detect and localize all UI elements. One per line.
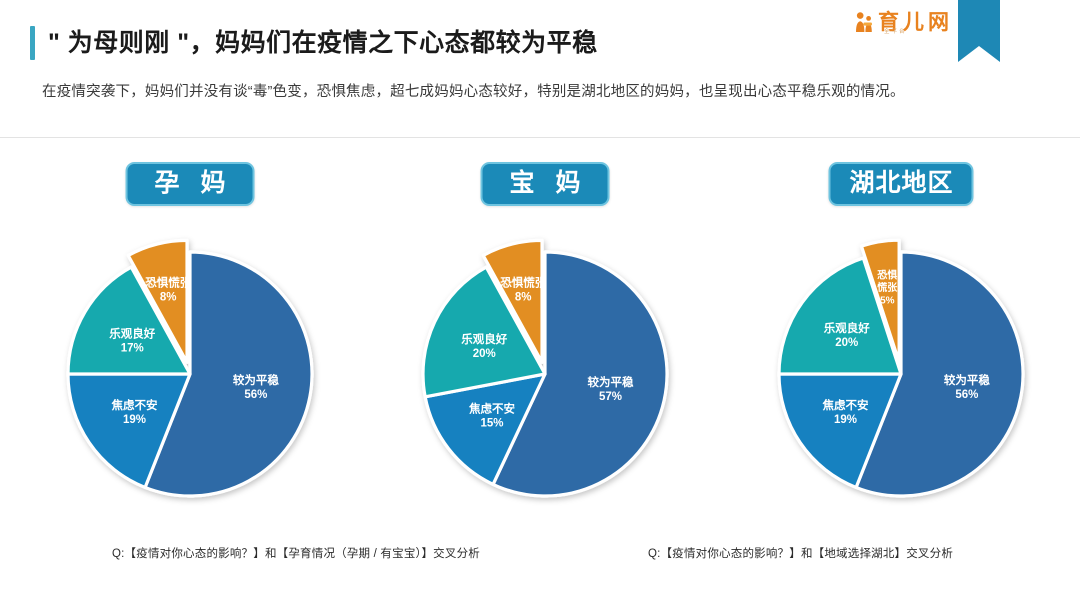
chart-panel-pregnant: 孕 妈 较为平稳56%焦虑不安19%乐观良好17%恐惧慌张8% — [10, 150, 370, 550]
pie-chart-1[interactable]: 较为平稳57%焦虑不安15%乐观良好20%恐惧慌张8% — [395, 224, 695, 524]
chart-panel-hubei: 湖北地区 较为平稳56%焦虑不安19%乐观良好20%恐惧慌张5% — [721, 150, 1080, 550]
pie-chart-2[interactable]: 较为平稳56%焦虑不安19%乐观良好20%恐惧慌张5% — [751, 224, 1051, 524]
header-divider — [0, 137, 1080, 138]
title-accent-bar — [30, 26, 35, 60]
footnote-pregnant-mother: Q:【疫情对你心态的影响？】和【孕育情况（孕期 / 有宝宝）】交叉分析 — [112, 545, 480, 561]
charts-row: 孕 妈 较为平稳56%焦虑不安19%乐观良好17%恐惧慌张8% 宝 妈 较为平稳… — [0, 150, 1080, 550]
chart-title-badge-1: 宝 妈 — [481, 162, 610, 206]
chart-title-badge-2: 湖北地区 — [828, 162, 973, 206]
chart-panel-mother: 宝 妈 较为平稳57%焦虑不安15%乐观良好20%恐惧慌张8% — [365, 150, 725, 550]
title-row: " 为母则刚 "，妈妈们在疫情之下心态都较为平稳 — [30, 26, 598, 60]
chart-title-badge-0: 孕 妈 — [126, 162, 255, 206]
ribbon-icon — [958, 0, 1000, 62]
footnote-hubei: Q:【疫情对你心态的影响？】和【地域选择湖北】交叉分析 — [648, 545, 953, 561]
page-header: " 为母则刚 "，妈妈们在疫情之下心态都较为平稳 在疫情突袭下，妈妈们并没有谈“… — [0, 0, 1080, 138]
footnotes-row: Q:【疫情对你心态的影响？】和【孕育情况（孕期 / 有宝宝）】交叉分析 Q:【疫… — [0, 545, 1080, 575]
page-title: " 为母则刚 "，妈妈们在疫情之下心态都较为平稳 — [48, 31, 598, 56]
brand-sub-label: 全平台 — [884, 27, 907, 35]
parent-child-icon — [855, 11, 875, 33]
page-subtitle: 在疫情突袭下，妈妈们并没有谈“毒”色变，恐惧焦虑，超七成妈妈心态较好，特别是湖北… — [42, 80, 987, 105]
pie-chart-0[interactable]: 较为平稳56%焦虑不安19%乐观良好17%恐惧慌张8% — [40, 224, 340, 524]
